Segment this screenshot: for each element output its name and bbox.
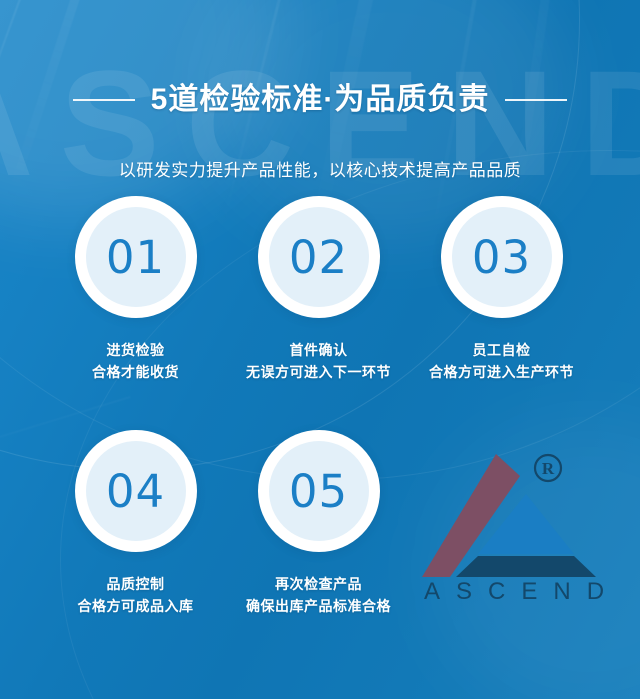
step-caption-05: 再次检查产品 确保出库产品标准合格 <box>227 574 410 617</box>
step-circle-inner-01: 01 <box>86 207 186 307</box>
title-row: 5道检验标准·为品质负责 <box>0 62 640 138</box>
page-title: 5道检验标准·为品质负责 <box>151 82 490 118</box>
step-caption-line2-02: 无误方可进入下一环节 <box>227 362 410 384</box>
step-number-04: 04 <box>106 469 165 514</box>
step-caption-02: 首件确认 无误方可进入下一环节 <box>227 340 410 383</box>
step-caption-line1-02: 首件确认 <box>227 340 410 362</box>
step-circle-inner-02: 02 <box>269 207 369 307</box>
ascend-logo: R ASCEND <box>418 444 630 604</box>
step-number-05: 05 <box>289 469 348 514</box>
logo-wordmark: ASCEND <box>424 578 620 604</box>
step-caption-line2-04: 合格方可成品入库 <box>44 596 227 618</box>
step-circle-04: 04 <box>75 430 197 552</box>
svg-text:R: R <box>542 459 555 478</box>
step-caption-line2-05: 确保出库产品标准合格 <box>227 596 410 618</box>
step-circle-inner-04: 04 <box>86 441 186 541</box>
step-item-05: 05 再次检查产品 确保出库产品标准合格 <box>227 430 410 617</box>
step-circle-inner-05: 05 <box>269 441 369 541</box>
step-item-02: 02 首件确认 无误方可进入下一环节 <box>227 196 410 383</box>
step-caption-line1-05: 再次检查产品 <box>227 574 410 596</box>
logo-navy-base <box>456 556 596 577</box>
step-circle-05: 05 <box>258 430 380 552</box>
step-circle-03: 03 <box>441 196 563 318</box>
step-circle-inner-03: 03 <box>452 207 552 307</box>
step-caption-line1-04: 品质控制 <box>44 574 227 596</box>
step-caption-line2-01: 合格才能收货 <box>44 362 227 384</box>
step-number-03: 03 <box>472 235 531 280</box>
step-caption-line2-03: 合格方可进入生产环节 <box>410 362 593 384</box>
step-item-01: 01 进货检验 合格才能收货 <box>44 196 227 383</box>
registered-mark-icon: R <box>535 455 561 481</box>
step-caption-03: 员工自检 合格方可进入生产环节 <box>410 340 593 383</box>
step-item-04: 04 品质控制 合格方可成品入库 <box>44 430 227 617</box>
step-circle-02: 02 <box>258 196 380 318</box>
step-caption-line1-01: 进货检验 <box>44 340 227 362</box>
step-item-03: 03 员工自检 合格方可进入生产环节 <box>410 196 593 383</box>
title-rule-left <box>73 99 135 101</box>
title-rule-right <box>505 99 567 101</box>
step-number-01: 01 <box>106 235 165 280</box>
step-caption-line1-03: 员工自检 <box>410 340 593 362</box>
step-caption-01: 进货检验 合格才能收货 <box>44 340 227 383</box>
step-circle-01: 01 <box>75 196 197 318</box>
page-subtitle: 以研发实力提升产品性能，以核心技术提高产品品质 <box>0 156 640 181</box>
step-number-02: 02 <box>289 235 348 280</box>
quality-standards-poster: ASCEND 5道检验标准·为品质负责 以研发实力提升产品性能，以核心技术提高产… <box>0 0 640 699</box>
steps-row-1: 01 进货检验 合格才能收货 02 首件确认 无误方可进入下一环节 <box>0 196 640 383</box>
poster-header: 5道检验标准·为品质负责 以研发实力提升产品性能，以核心技术提高产品品质 <box>0 62 640 181</box>
step-caption-04: 品质控制 合格方可成品入库 <box>44 574 227 617</box>
